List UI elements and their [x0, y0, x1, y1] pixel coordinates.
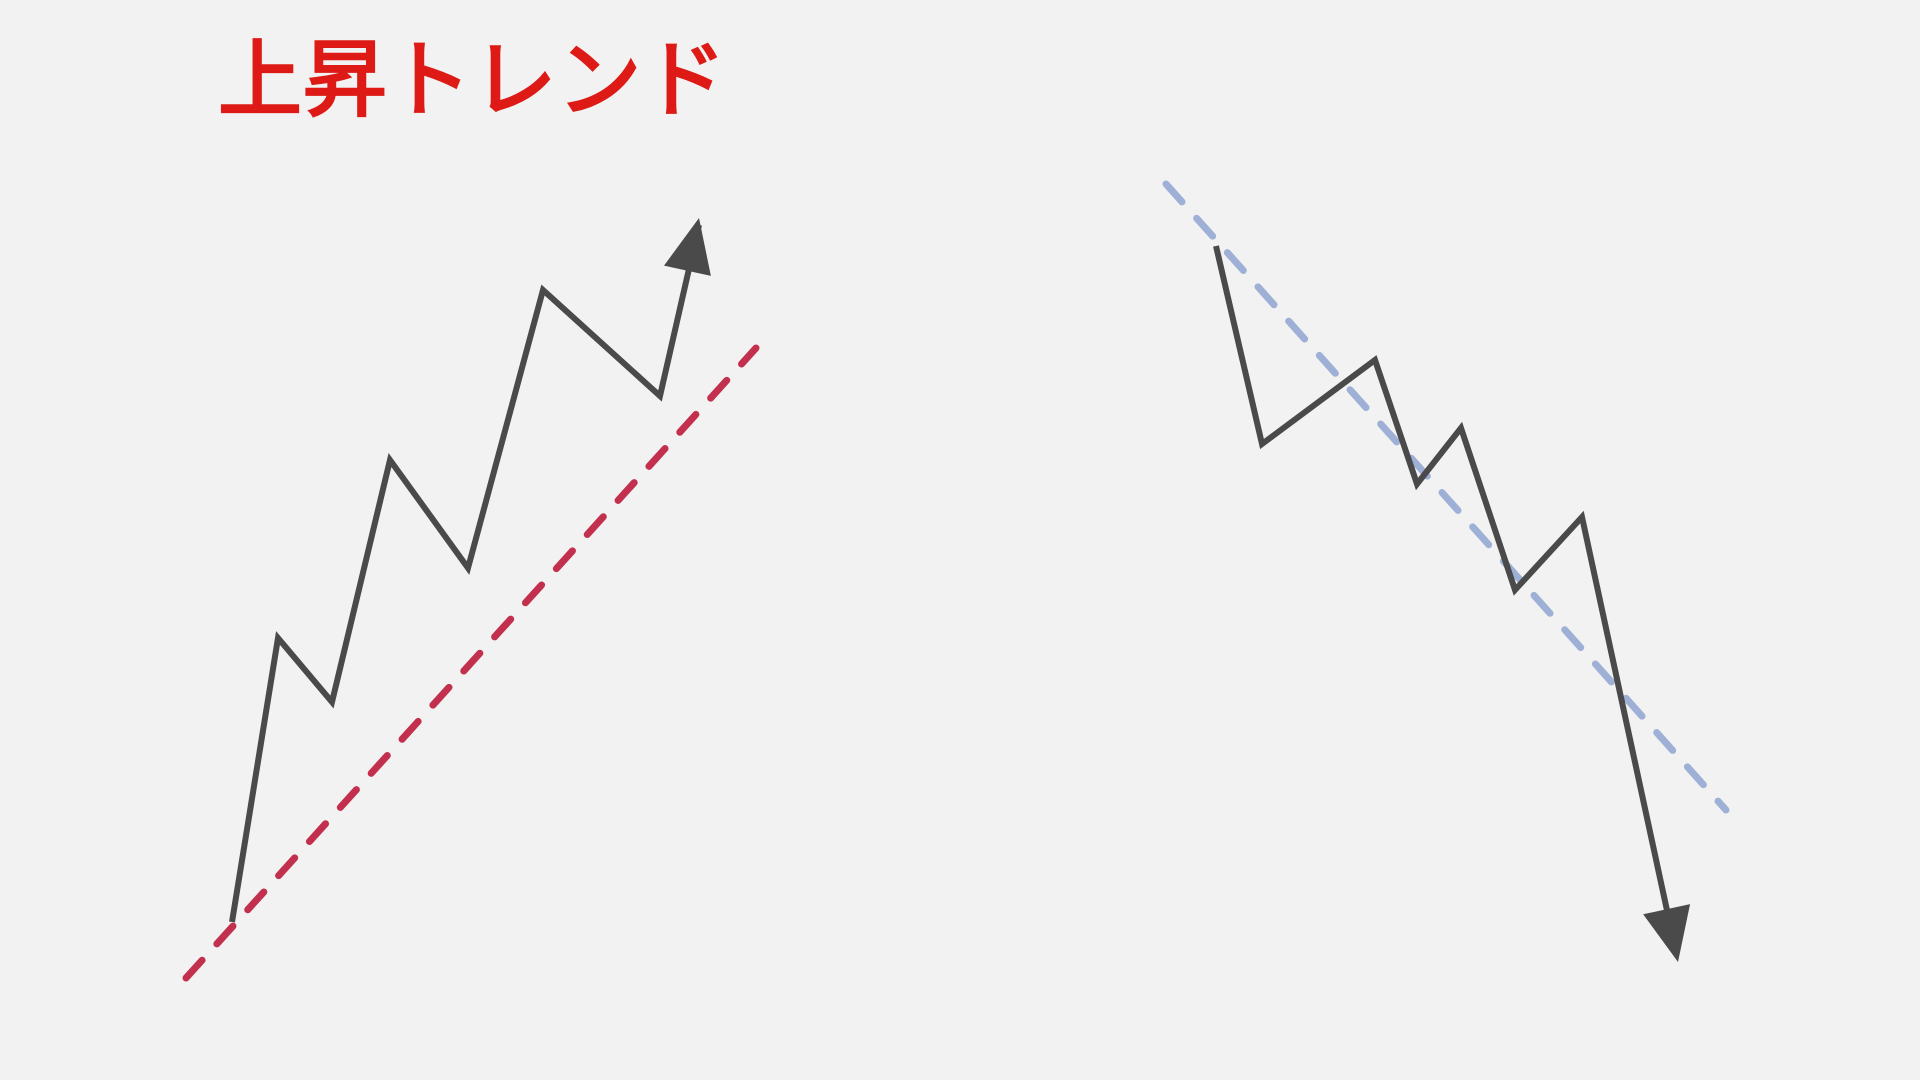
diagram-canvas: 上昇トレンド 下降トレンド	[0, 0, 1920, 1080]
downtrend-resistance-trendline	[1166, 184, 1726, 810]
trend-chart-graphics	[0, 0, 1920, 1080]
downtrend-arrow-head-icon	[1643, 904, 1690, 962]
uptrend-arrow-head-icon	[664, 218, 711, 276]
downtrend-price-path	[1216, 246, 1676, 952]
uptrend-price-path	[232, 225, 699, 922]
